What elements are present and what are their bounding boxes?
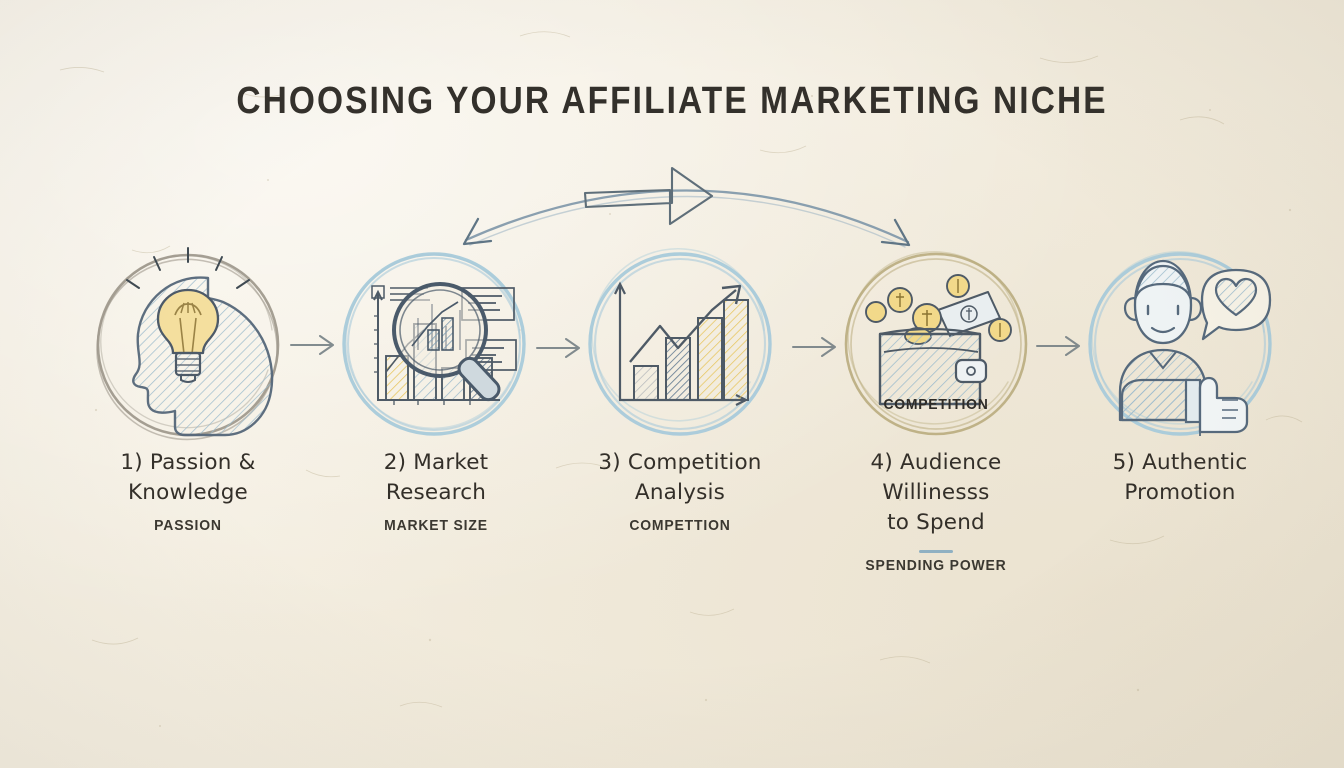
growth-bar-chart (615, 284, 748, 405)
step-label-5: 5) Authentic Promotion (1056, 448, 1304, 508)
step-sublabel-3: COMPETTION (565, 517, 796, 534)
step-label-3: 3) Competition Analysis COMPETTION (556, 448, 804, 534)
step-sublabel-4: SPENDING POWER (821, 557, 1052, 574)
connector-arrow-4-5 (1037, 337, 1079, 355)
connector-arrow-3-4 (793, 338, 835, 356)
step-title-1: 1) Passion & Knowledge (58, 448, 318, 508)
step-sublabel-2: MARKET SIZE (321, 517, 552, 534)
step-sublabel-1: PASSION (67, 517, 309, 534)
step-3-illustration (590, 249, 770, 434)
step-label-1: 1) Passion & Knowledge PASSION (58, 448, 318, 534)
step-title-3: 3) Competition Analysis (556, 448, 804, 508)
step-title-5: 5) Authentic Promotion (1056, 448, 1304, 508)
page-title: CHOOSING YOUR AFFILIATE MARKETING NICHE (81, 80, 1264, 123)
wallet (880, 329, 986, 404)
step-label-2: 2) Market Research MARKET SIZE (312, 448, 560, 534)
step-4-divider (919, 550, 953, 553)
step-label-4: 4) Audience Willinesss to Spend SPENDING… (812, 448, 1060, 574)
step-2-illustration (344, 254, 524, 434)
connector-arrow-2-3 (537, 339, 579, 357)
connector-arrow-1-2 (291, 336, 333, 354)
step-title-4: 4) Audience Willinesss to Spend (812, 448, 1060, 538)
step-5-illustration (1090, 252, 1270, 436)
step-title-2: 2) Market Research (312, 448, 560, 508)
infographic-stage: CHOOSING YOUR AFFILIATE MARKETING NICHE … (0, 0, 1344, 768)
speech-bubble-heart (1202, 270, 1270, 339)
step-1-illustration (78, 240, 296, 458)
feedback-curved-arrow (464, 190, 909, 247)
step-4-inline-tag: COMPETITION (862, 396, 1011, 413)
